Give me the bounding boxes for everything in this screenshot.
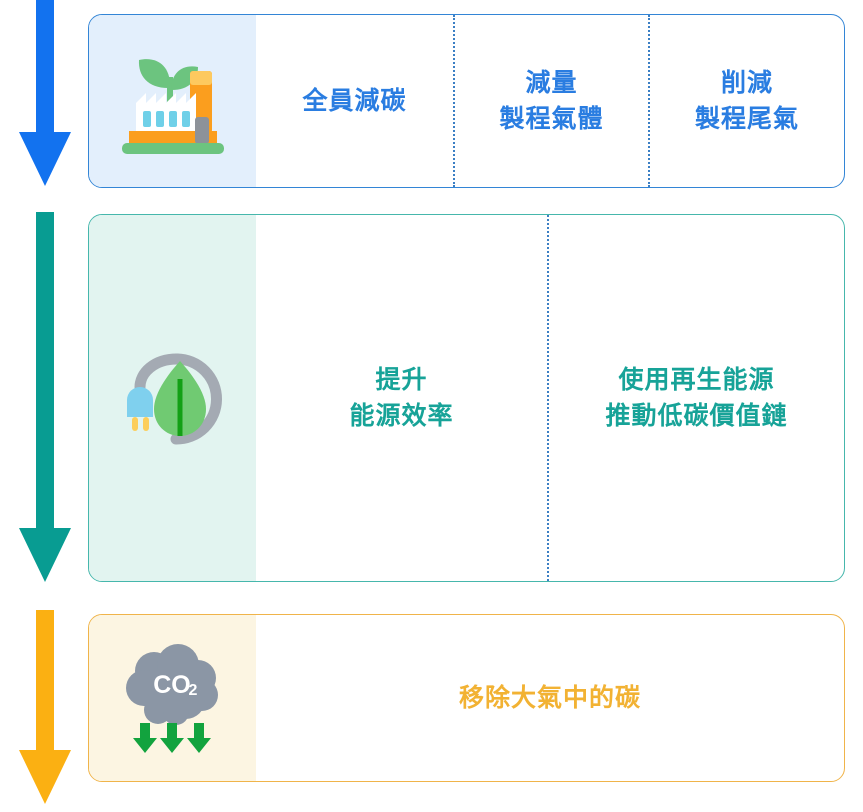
cell-all-staff-carbon-reduction[interactable]: 全員減碳 <box>256 15 453 187</box>
row-cells: 移除大氣中的碳 <box>256 615 844 781</box>
cell-line: 製程尾氣 <box>695 101 799 137</box>
cell-line: 減量 <box>525 65 577 101</box>
co2-subscript-label: 2 <box>188 682 197 699</box>
row-energy[interactable]: 提升 能源效率 使用再生能源 推動低碳價值鏈 <box>88 214 845 582</box>
cell-line: 削減 <box>721 65 773 101</box>
row-cells: 提升 能源效率 使用再生能源 推動低碳價值鏈 <box>256 215 844 581</box>
down-arrow-orange <box>18 610 72 806</box>
co2-cloud-down-arrows-icon: CO 2 <box>89 615 256 781</box>
cell-improve-energy-efficiency[interactable]: 提升 能源效率 <box>256 215 547 581</box>
cell-line: 推動低碳價值鏈 <box>605 398 787 434</box>
cell-line: 提升 <box>375 362 427 398</box>
down-arrow-teal <box>18 212 72 584</box>
down-arrow-blue <box>18 0 72 188</box>
cell-reduce-process-gas[interactable]: 減量 製程氣體 <box>453 15 648 187</box>
cell-line: 移除大氣中的碳 <box>459 680 641 716</box>
cell-line: 製程氣體 <box>499 101 603 137</box>
cell-remove-atmospheric-carbon[interactable]: 移除大氣中的碳 <box>256 615 844 781</box>
leaf-power-plug-icon <box>89 215 256 581</box>
row-cells: 全員減碳 減量 製程氣體 削減 製程尾氣 <box>256 15 844 187</box>
co2-label: CO <box>153 671 191 699</box>
cell-renewable-energy-value-chain[interactable]: 使用再生能源 推動低碳價值鏈 <box>547 215 844 581</box>
row-reduce-emissions[interactable]: 全員減碳 減量 製程氣體 削減 製程尾氣 <box>88 14 845 188</box>
row-carbon-removal[interactable]: CO 2 移除大氣中的碳 <box>88 614 845 782</box>
cell-line: 能源效率 <box>349 398 453 434</box>
cell-line: 使用再生能源 <box>618 362 774 398</box>
cell-line: 全員減碳 <box>302 83 406 119</box>
diagram-canvas: 全員減碳 減量 製程氣體 削減 製程尾氣 <box>0 0 863 812</box>
factory-with-sprout-icon <box>89 15 256 187</box>
cell-cut-process-exhaust[interactable]: 削減 製程尾氣 <box>648 15 844 187</box>
